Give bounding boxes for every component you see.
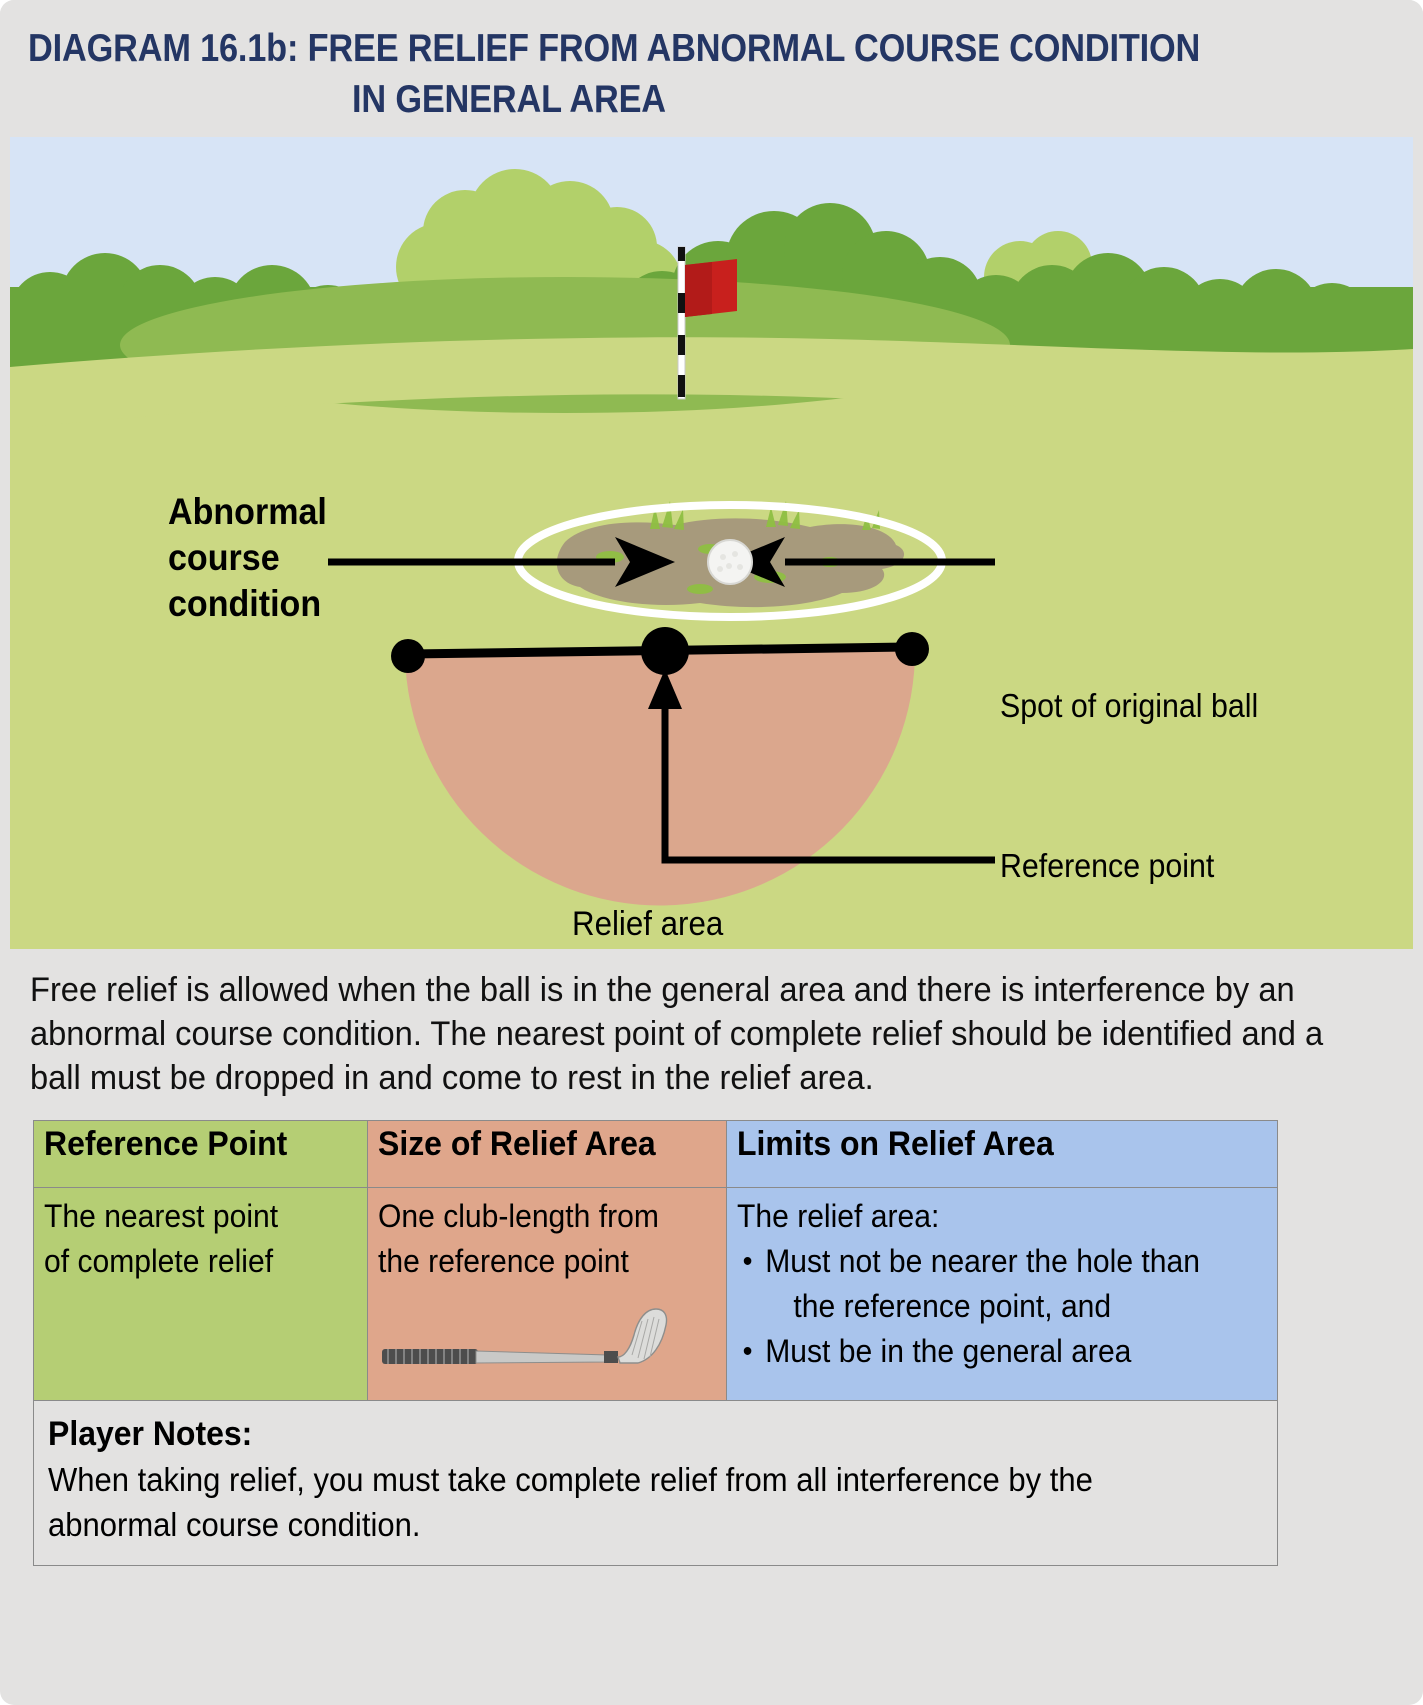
player-notes-box: Player Notes: When taking relief, you mu…: [33, 1400, 1278, 1566]
table-header-row: Reference Point Size of Relief Area Limi…: [34, 1121, 1278, 1188]
label-relief-area: Relief area: [572, 905, 723, 944]
reference-point-dot: [641, 627, 689, 675]
limits-bullet-list: Must not be nearer the hole than the ref…: [737, 1239, 1235, 1374]
golf-club-icon: [380, 1305, 680, 1391]
diagram-page: DIAGRAM 16.1b: FREE RELIEF FROM ABNORMAL…: [0, 0, 1423, 1705]
header-reference-point: Reference Point: [34, 1121, 368, 1188]
label-abnormal-course-condition: Abnormal course condition: [168, 489, 327, 627]
page-title-line-2: IN GENERAL AREA: [352, 78, 666, 122]
relief-left-endpoint: [391, 639, 425, 673]
header-size-of-relief-area: Size of Relief Area: [368, 1121, 727, 1188]
description-paragraph: Free relief is allowed when the ball is …: [30, 968, 1336, 1100]
flagstick: [678, 247, 685, 399]
golf-course-illustration: Abnormal course condition Spot of origin…: [10, 137, 1413, 949]
limits-bullet-1: Must not be nearer the hole than the ref…: [737, 1239, 1235, 1329]
limits-bullet-2-text: Must be in the general area: [765, 1333, 1131, 1369]
label-reference-point: Reference point: [1000, 847, 1214, 885]
table-body-row: The nearest point of complete relief One…: [34, 1188, 1278, 1420]
relief-right-endpoint: [895, 632, 929, 666]
header-limits-on-relief-area: Limits on Relief Area: [727, 1121, 1278, 1188]
cell-reference-point: The nearest point of complete relief: [34, 1188, 368, 1420]
limits-bullet-1-continuation: the reference point, and: [765, 1284, 1235, 1329]
label-spot-of-original-ball: Spot of original ball: [1000, 687, 1258, 725]
golf-ball: [708, 540, 752, 584]
limits-bullet-2: Must be in the general area: [737, 1329, 1235, 1374]
limits-intro: The relief area:: [737, 1194, 1235, 1239]
limits-bullet-1-text: Must not be nearer the hole than: [765, 1243, 1200, 1279]
cell-limits-on-relief-area: The relief area: Must not be nearer the …: [727, 1188, 1278, 1420]
flag-shade: [685, 262, 712, 317]
relief-summary-table: Reference Point Size of Relief Area Limi…: [33, 1120, 1278, 1420]
player-notes-title: Player Notes:: [48, 1411, 1190, 1457]
page-title-line-1: DIAGRAM 16.1b: FREE RELIEF FROM ABNORMAL…: [28, 27, 1200, 71]
header-bar: DIAGRAM 16.1b: FREE RELIEF FROM ABNORMAL…: [0, 0, 1423, 137]
player-notes-body: When taking relief, you must take comple…: [48, 1457, 1190, 1547]
cell-size-of-relief-area: One club-length from the reference point: [368, 1188, 727, 1420]
